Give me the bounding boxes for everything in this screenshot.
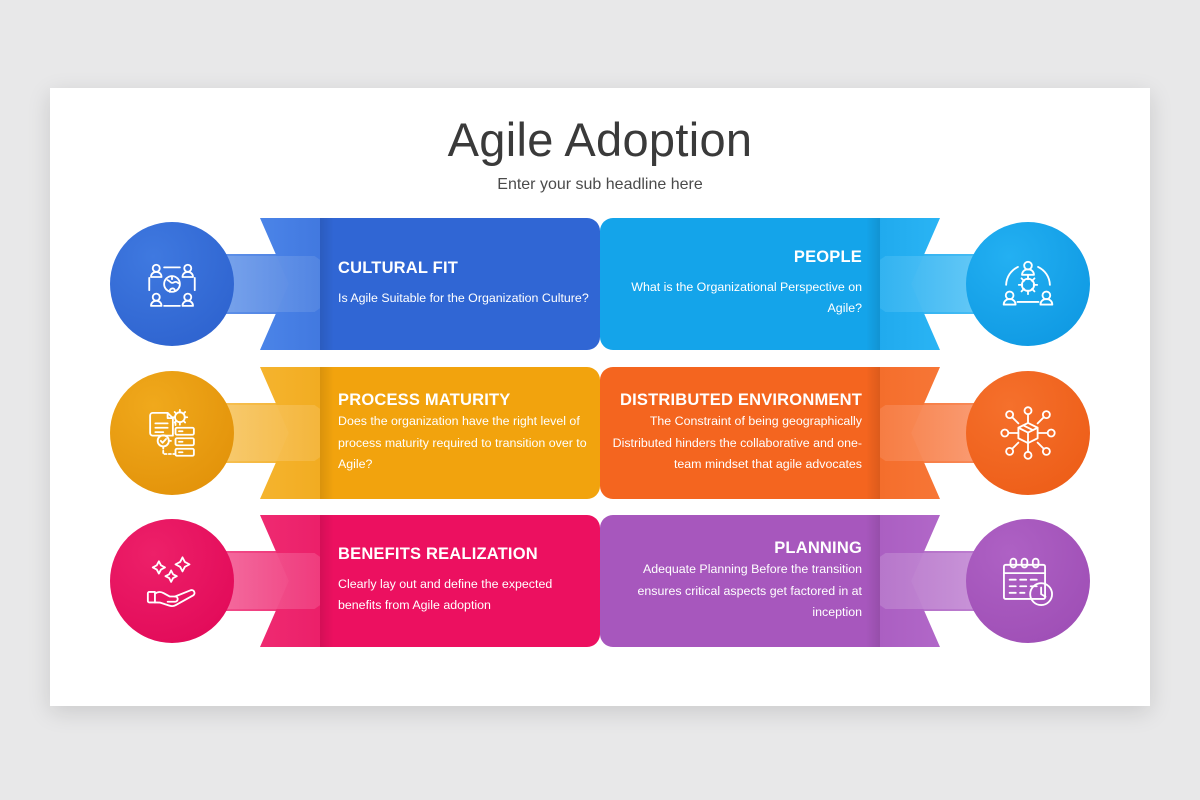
card-description: The Constraint of being geographically D… xyxy=(606,411,862,475)
card-title: PEOPLE xyxy=(794,248,862,268)
card-text: PROCESS MATURITYDoes the organization ha… xyxy=(338,367,594,499)
card-text: PEOPLEWhat is the Organizational Perspec… xyxy=(606,218,862,350)
card-description: Adequate Planning Before the transition … xyxy=(606,559,862,623)
hand-sparkles-icon xyxy=(144,553,200,609)
card-title: DISTRIBUTED ENVIRONMENT xyxy=(620,391,862,411)
card-icon-circle xyxy=(110,371,234,495)
card-text: CULTURAL FITIs Agile Suitable for the Or… xyxy=(338,218,594,350)
card-description: Clearly lay out and define the expected … xyxy=(338,574,594,617)
card-distributed-environment[interactable]: DISTRIBUTED ENVIRONMENTThe Constraint of… xyxy=(600,367,1090,499)
people-globe-network-icon xyxy=(144,256,200,312)
card-text: BENEFITS REALIZATIONClearly lay out and … xyxy=(338,515,594,647)
card-people[interactable]: PEOPLEWhat is the Organizational Perspec… xyxy=(600,218,1090,350)
page-subtitle: Enter your sub headline here xyxy=(50,176,1150,194)
card-title: BENEFITS REALIZATION xyxy=(338,545,538,565)
card-description: Is Agile Suitable for the Organization C… xyxy=(338,288,589,309)
slide-canvas: Agile Adoption Enter your sub headline h… xyxy=(50,88,1150,706)
card-title: CULTURAL FIT xyxy=(338,259,458,279)
card-process-maturity[interactable]: PROCESS MATURITYDoes the organization ha… xyxy=(110,367,600,499)
card-benefits-realization[interactable]: BENEFITS REALIZATIONClearly lay out and … xyxy=(110,515,600,647)
page-title: Agile Adoption xyxy=(50,114,1150,166)
card-icon-circle xyxy=(966,222,1090,346)
card-title: PROCESS MATURITY xyxy=(338,391,511,411)
card-icon-circle xyxy=(966,519,1090,643)
card-title: PLANNING xyxy=(774,539,862,559)
card-planning[interactable]: PLANNINGAdequate Planning Before the tra… xyxy=(600,515,1090,647)
card-text: PLANNINGAdequate Planning Before the tra… xyxy=(606,515,862,647)
card-icon-circle xyxy=(966,371,1090,495)
distributed-cube-network-icon xyxy=(1000,405,1056,461)
card-description: What is the Organizational Perspective o… xyxy=(606,277,862,320)
document-gear-checklist-icon xyxy=(144,405,200,461)
card-description: Does the organization have the right lev… xyxy=(338,411,594,475)
card-icon-circle xyxy=(110,222,234,346)
calendar-clock-icon xyxy=(1000,553,1056,609)
card-cultural-fit[interactable]: CULTURAL FITIs Agile Suitable for the Or… xyxy=(110,218,600,350)
card-icon-circle xyxy=(110,519,234,643)
card-text: DISTRIBUTED ENVIRONMENTThe Constraint of… xyxy=(606,367,862,499)
people-gear-icon xyxy=(1000,256,1056,312)
